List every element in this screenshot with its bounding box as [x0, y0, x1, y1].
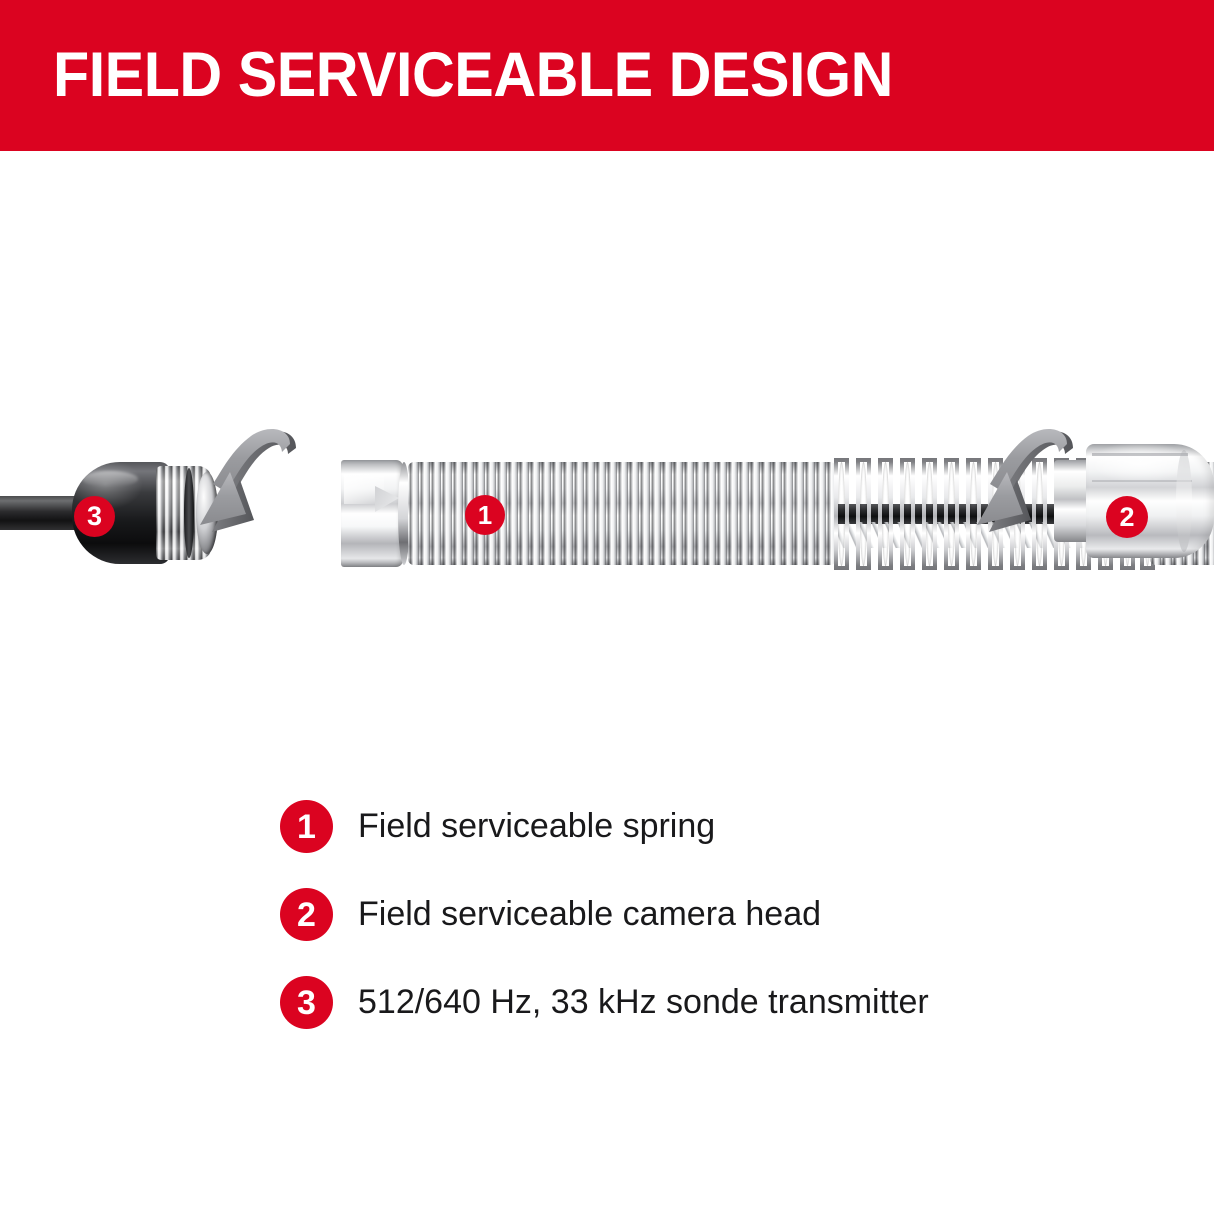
- legend-label-3: 512/640 Hz, 33 kHz sonde transmitter: [358, 980, 929, 1024]
- legend-item: 3 512/640 Hz, 33 kHz sonde transmitter: [280, 976, 1140, 1064]
- legend-item: 1 Field serviceable spring: [280, 800, 1140, 888]
- legend-badge-3: 3: [280, 976, 333, 1029]
- product-illustration: 3: [0, 400, 1214, 640]
- legend-badge-2: 2: [280, 888, 333, 941]
- camera-head-body: [1086, 444, 1214, 558]
- header-banner: FIELD SERVICEABLE DESIGN: [0, 0, 1214, 151]
- legend-label-2: Field serviceable camera head: [358, 892, 821, 936]
- callout-badge-spring: 1: [465, 495, 505, 535]
- legend-label-1: Field serviceable spring: [358, 804, 715, 848]
- camera-head-lens-seam: [1176, 450, 1192, 552]
- legend-item: 2 Field serviceable camera head: [280, 888, 1140, 976]
- spring-hex-collar: [341, 460, 403, 567]
- legend-badge-1: 1: [280, 800, 333, 853]
- legend: 1 Field serviceable spring 2 Field servi…: [280, 800, 1140, 1064]
- page-title: FIELD SERVICEABLE DESIGN: [53, 42, 893, 108]
- callout-badge-sonde: 3: [74, 496, 115, 537]
- callout-badge-camera-head: 2: [1106, 496, 1148, 538]
